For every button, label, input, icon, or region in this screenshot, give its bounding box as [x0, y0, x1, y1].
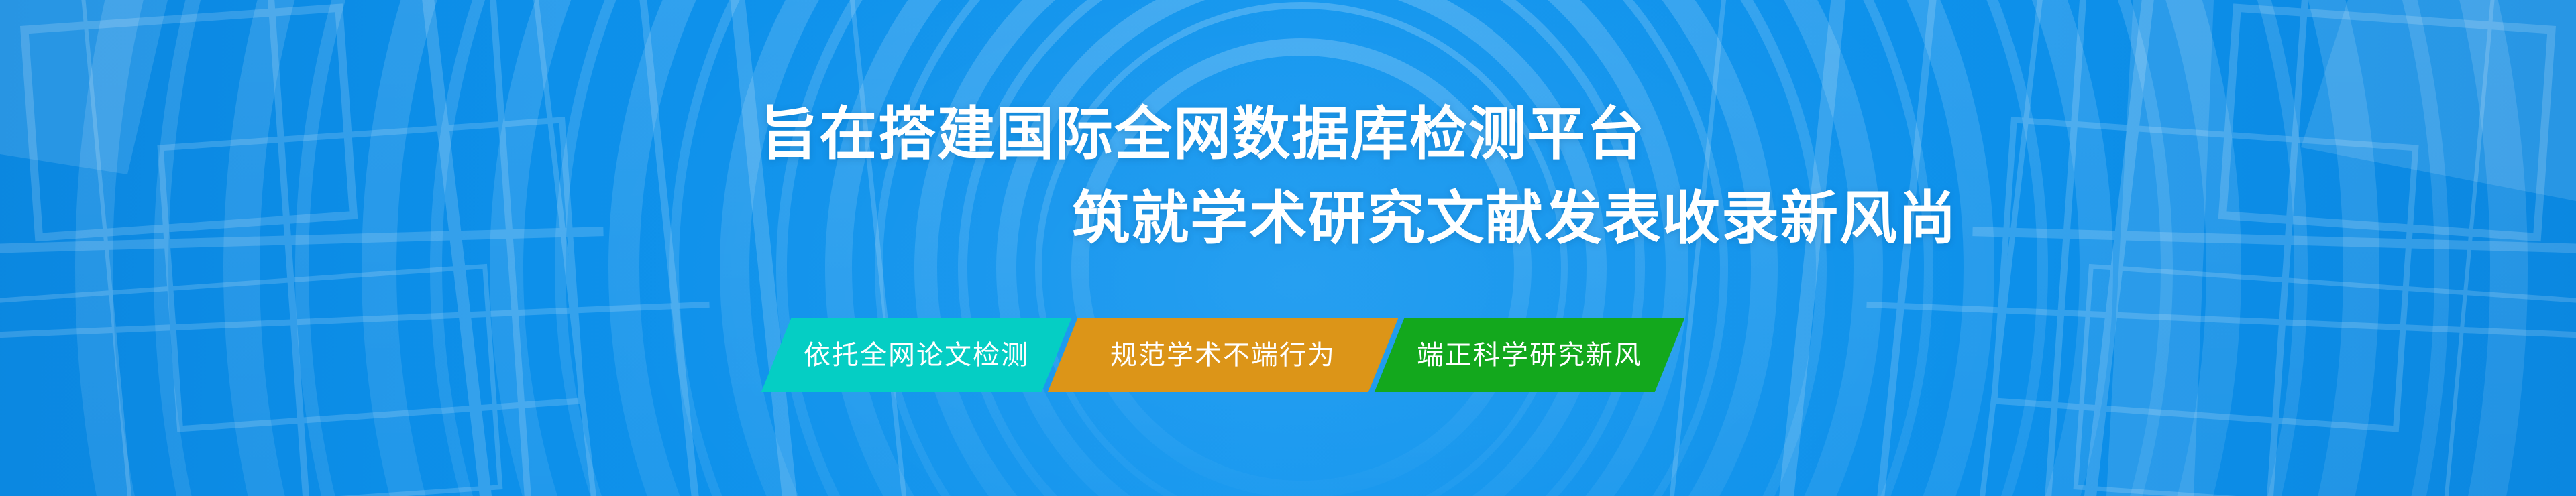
headline-block: 旨在搭建国际全网数据库检测平台 筑就学术研究文献发表收录新风尚	[0, 99, 2576, 253]
headline-line-2: 筑就学术研究文献发表收录新风尚	[0, 184, 2576, 253]
feature-tag-integrity[interactable]: 端正科学研究新风	[1375, 318, 1684, 392]
feature-tag-strip: 依托全网论文检测 规范学术不端行为 端正科学研究新风	[776, 318, 1670, 392]
feature-tag-detection[interactable]: 依托全网论文检测	[761, 318, 1071, 392]
headline-line-1: 旨在搭建国际全网数据库检测平台	[0, 99, 2576, 169]
feature-tag-misconduct[interactable]: 规范学术不端行为	[1048, 318, 1398, 392]
feature-tag-label: 端正科学研究新风	[1417, 342, 1642, 369]
feature-tag-label: 规范学术不端行为	[1110, 342, 1336, 369]
feature-tag-label: 依托全网论文检测	[804, 342, 1029, 369]
banner-content: 旨在搭建国际全网数据库检测平台 筑就学术研究文献发表收录新风尚 依托全网论文检测…	[0, 0, 2576, 496]
promo-banner: 旨在搭建国际全网数据库检测平台 筑就学术研究文献发表收录新风尚 依托全网论文检测…	[0, 0, 2576, 496]
